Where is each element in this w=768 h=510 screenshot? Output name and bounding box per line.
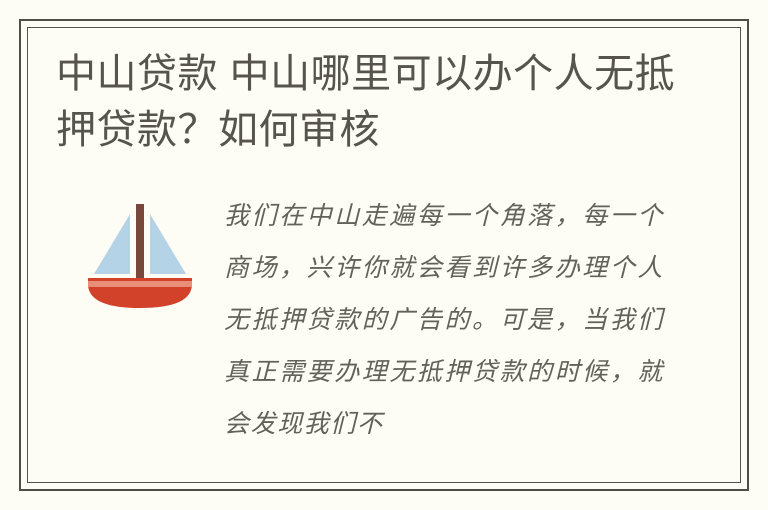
- sailboat-icon: [80, 192, 200, 312]
- article-paragraph: 我们在中山走遍每一个角落，每一个商场，兴许你就会看到许多办理个人无抵押贷款的广告…: [224, 188, 664, 450]
- article-figure: [56, 188, 224, 312]
- article-title: 中山贷款 中山哪里可以办个人无抵押贷款？如何审核: [52, 46, 676, 158]
- article-content: 中山贷款 中山哪里可以办个人无抵押贷款？如何审核 我们在中山走遍每一个角落，每一…: [0, 0, 768, 510]
- article-card: 中山贷款 中山哪里可以办个人无抵押贷款？如何审核 我们在中山走遍每一个角落，每一…: [0, 0, 768, 510]
- article-body: 我们在中山走遍每一个角落，每一个商场，兴许你就会看到许多办理个人无抵押贷款的广告…: [52, 188, 716, 450]
